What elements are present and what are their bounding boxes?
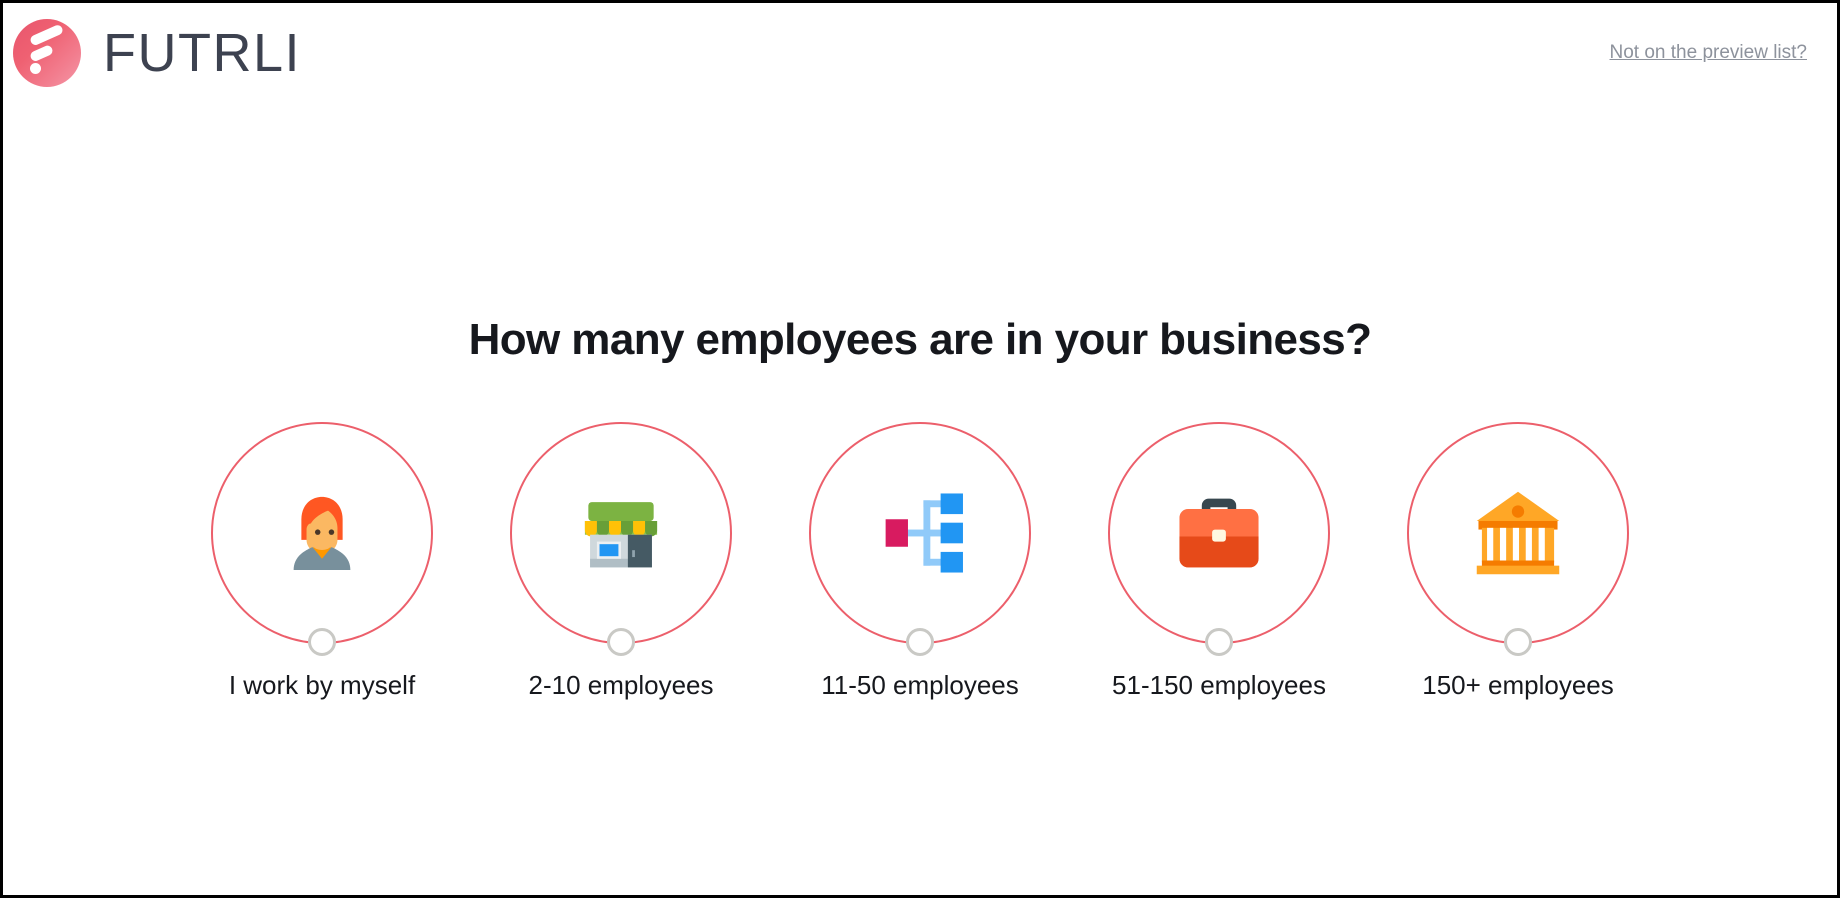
briefcase-icon bbox=[1164, 478, 1274, 588]
bank-building-icon bbox=[1463, 478, 1573, 588]
brand-name: FUTRLI bbox=[103, 26, 301, 80]
main-content: How many employees are in your business?… bbox=[3, 103, 1837, 895]
shop-storefront-icon bbox=[566, 478, 676, 588]
option-radio-button[interactable] bbox=[1205, 628, 1233, 656]
brand-logo-group[interactable]: FUTRLI bbox=[13, 19, 301, 87]
futrli-logo-icon bbox=[13, 19, 81, 87]
option-radio-button[interactable] bbox=[308, 628, 336, 656]
page-header: FUTRLI Not on the preview list? bbox=[3, 3, 1837, 103]
option-11-50-employees[interactable]: 11-50 employees bbox=[809, 422, 1031, 701]
option-circle[interactable] bbox=[211, 422, 433, 644]
org-chart-icon bbox=[865, 478, 975, 588]
preview-list-link[interactable]: Not on the preview list? bbox=[1610, 42, 1808, 64]
logo-dot-icon bbox=[30, 63, 41, 74]
logo-bar-lower-icon bbox=[29, 44, 54, 62]
option-radio-button[interactable] bbox=[607, 628, 635, 656]
option-51-150-employees[interactable]: 51-150 employees bbox=[1108, 422, 1330, 701]
logo-bar-upper-icon bbox=[29, 24, 64, 47]
option-i-work-by-myself[interactable]: I work by myself bbox=[211, 422, 433, 701]
option-circle[interactable] bbox=[1407, 422, 1629, 644]
option-150-plus-employees[interactable]: 150+ employees bbox=[1407, 422, 1629, 701]
option-label: 2-10 employees bbox=[529, 670, 714, 701]
option-label: 11-50 employees bbox=[821, 670, 1019, 701]
option-circle[interactable] bbox=[510, 422, 732, 644]
option-label: 150+ employees bbox=[1422, 670, 1614, 701]
option-label: 51-150 employees bbox=[1112, 670, 1326, 701]
option-radio-button[interactable] bbox=[906, 628, 934, 656]
option-circle[interactable] bbox=[809, 422, 1031, 644]
option-label: I work by myself bbox=[229, 670, 415, 701]
page-title: How many employees are in your business? bbox=[469, 315, 1372, 365]
option-radio-button[interactable] bbox=[1504, 628, 1532, 656]
employee-count-option-group: I work by myself bbox=[211, 422, 1629, 701]
woman-avatar-icon bbox=[267, 478, 377, 588]
option-circle[interactable] bbox=[1108, 422, 1330, 644]
option-2-10-employees[interactable]: 2-10 employees bbox=[510, 422, 732, 701]
